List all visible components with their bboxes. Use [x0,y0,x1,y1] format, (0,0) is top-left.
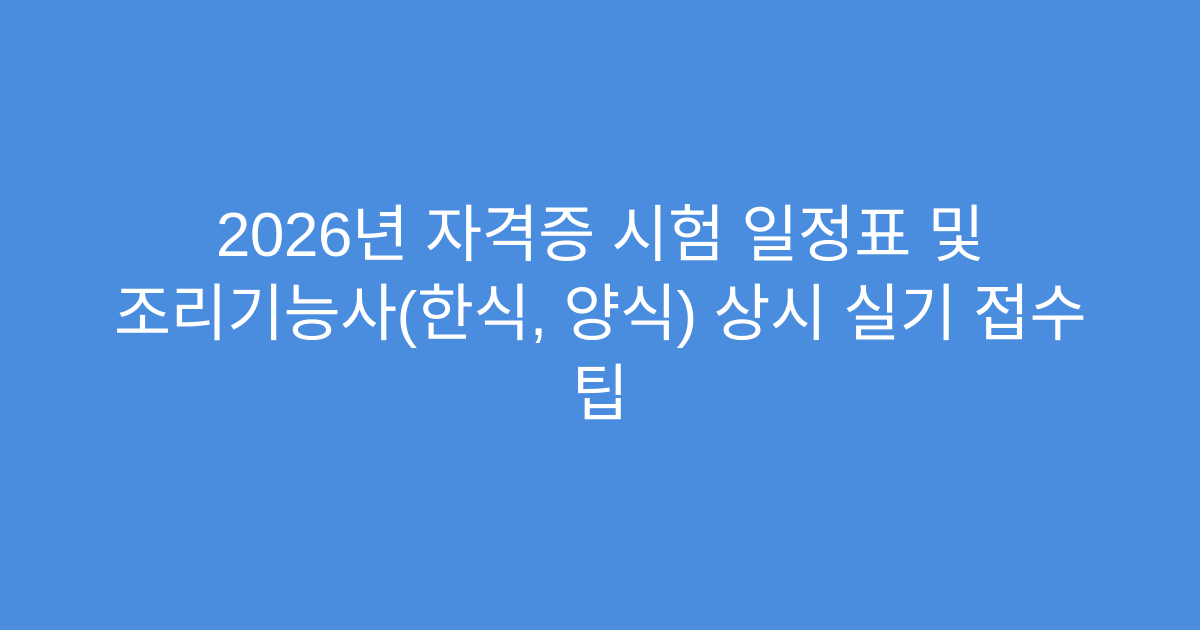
page-title: 2026년 자격증 시험 일정표 및 조리기능사(한식, 양식) 상시 실기 접… [105,196,1095,434]
open-graph-card: 2026년 자격증 시험 일정표 및 조리기능사(한식, 양식) 상시 실기 접… [0,0,1200,630]
title-block: 2026년 자격증 시험 일정표 및 조리기능사(한식, 양식) 상시 실기 접… [95,196,1105,434]
